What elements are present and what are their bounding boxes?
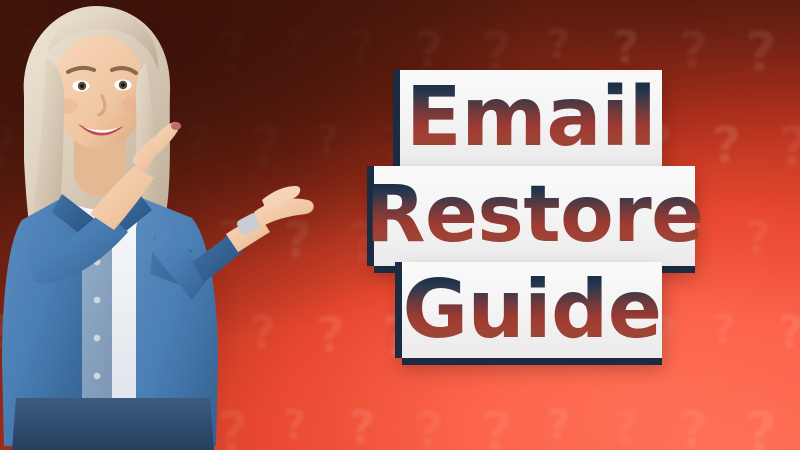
title-box-restore: Restore xyxy=(374,166,695,266)
fingernail xyxy=(171,122,181,130)
thumbnail-canvas: ????????????????????????????????????????… xyxy=(0,0,800,450)
open-palm xyxy=(254,199,314,229)
jeans xyxy=(12,398,214,450)
title-box-guide: Guide xyxy=(402,262,662,358)
title-word-restore: Restore xyxy=(365,180,703,252)
title-box-email: Email xyxy=(400,70,662,166)
woman-pointing xyxy=(0,0,316,450)
title-word-guide: Guide xyxy=(402,273,661,347)
title-word-email: Email xyxy=(406,80,657,155)
